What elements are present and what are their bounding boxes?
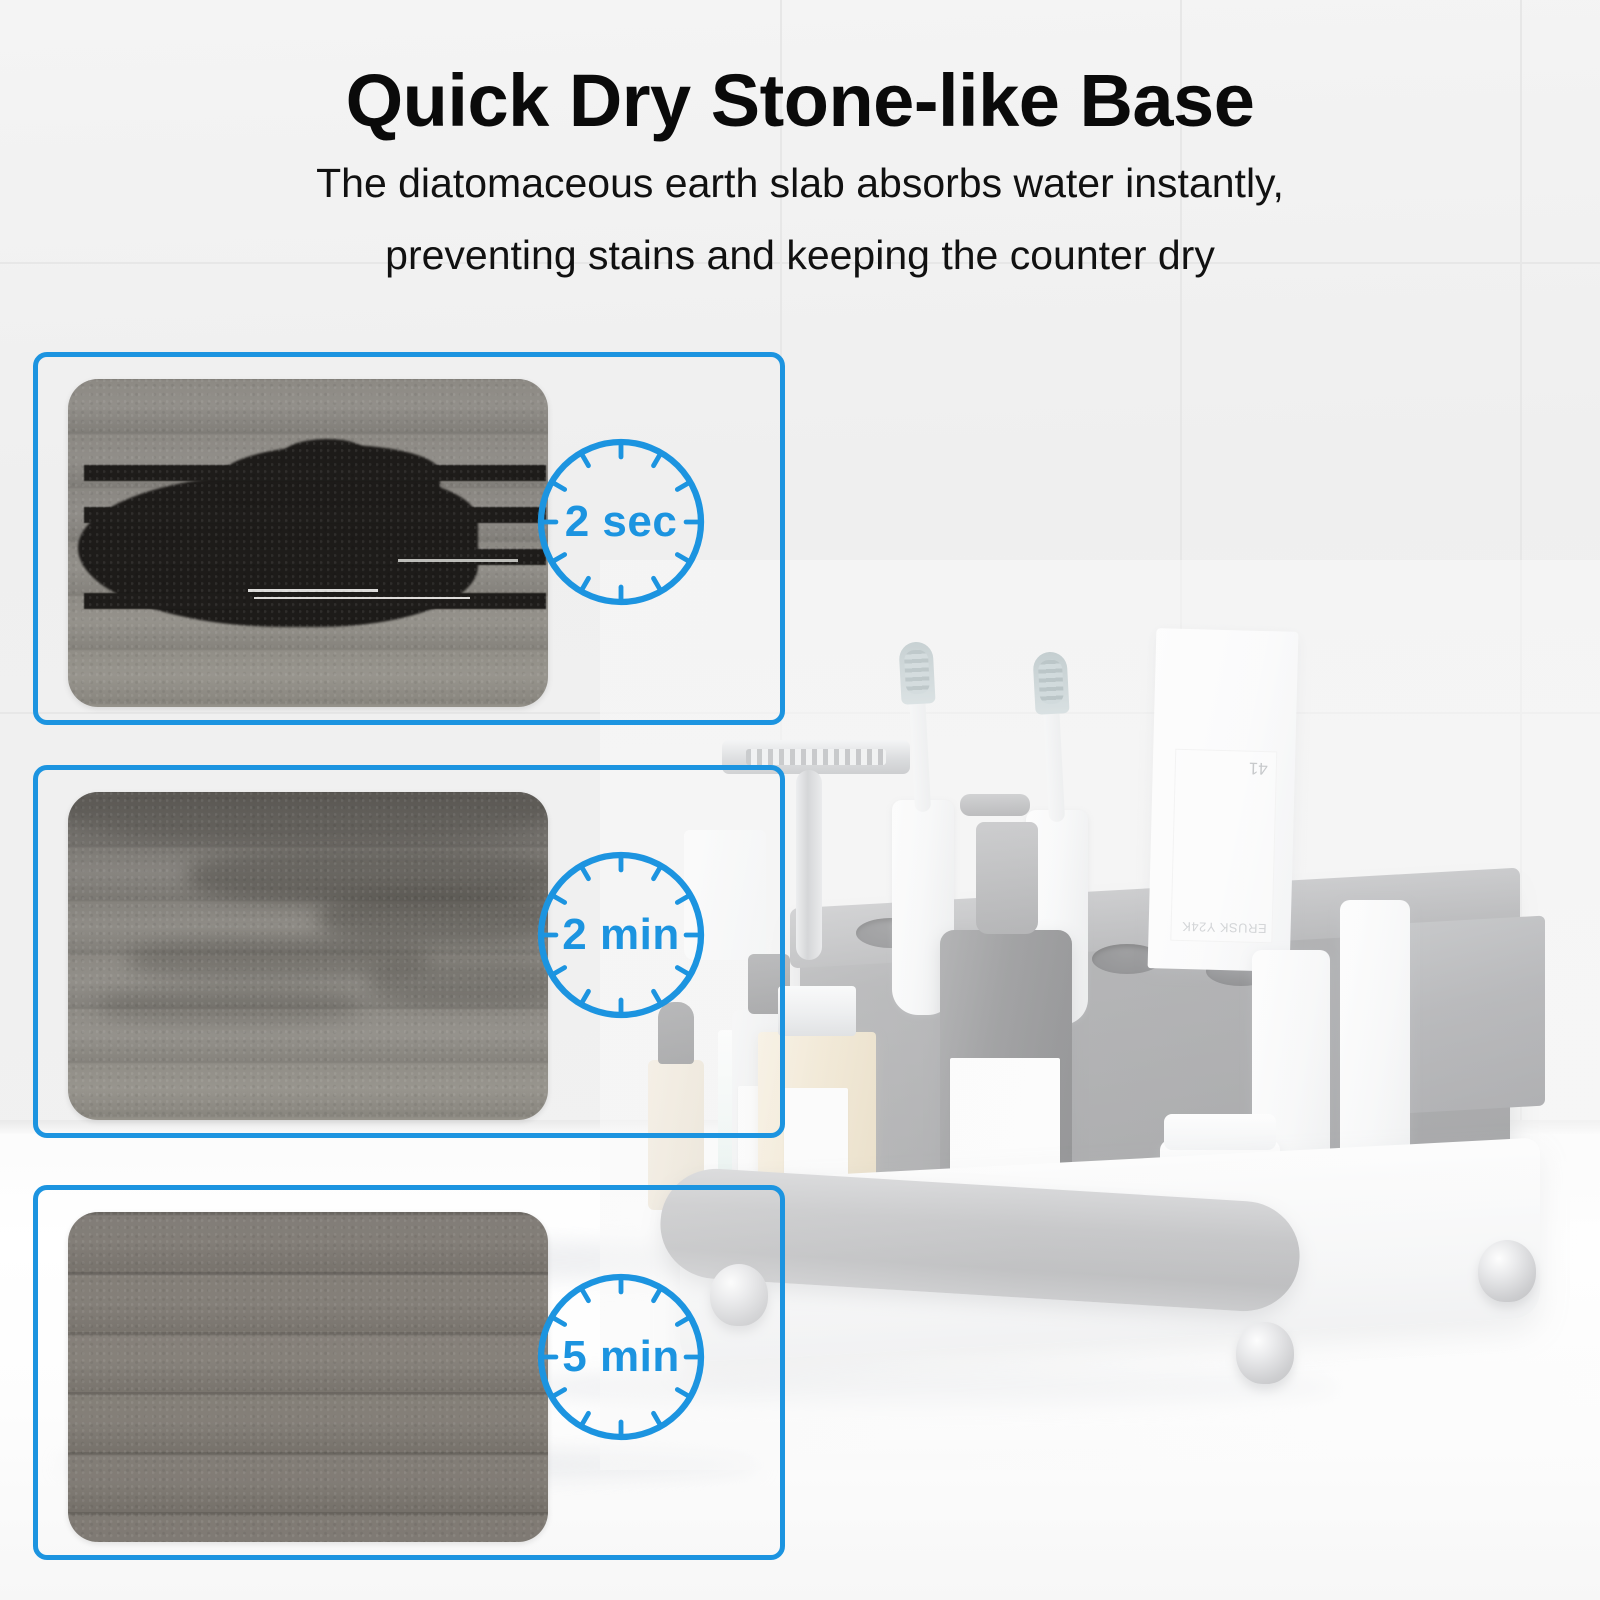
- subtitle-line-2: preventing stains and keeping the counte…: [0, 226, 1600, 284]
- stage-panel-dry[interactable]: 5 min: [33, 1185, 785, 1560]
- stage-panel-wet[interactable]: 2 sec: [33, 352, 785, 725]
- clock-badge-label: 2 min: [528, 842, 714, 1028]
- slab-photo-wet: [68, 379, 548, 707]
- clock-badge-label: 5 min: [528, 1264, 714, 1450]
- slab-photo-dry: [68, 1212, 548, 1542]
- clock-badge-label: 2 sec: [528, 429, 714, 615]
- tube-label-text: ERUSK Y24K: [1181, 919, 1266, 936]
- perfume-label: [784, 1088, 848, 1184]
- chrome-foot: [1478, 1240, 1536, 1302]
- perfume-cap: [778, 986, 856, 1036]
- subtitle-line-1: The diatomaceous earth slab absorbs wate…: [0, 154, 1600, 212]
- toothpaste-tube: 41 ERUSK Y24K: [1148, 628, 1299, 972]
- toothbrush-head: [1032, 651, 1069, 715]
- clock-badge-2sec: 2 sec: [528, 429, 714, 615]
- clock-badge-5min: 5 min: [528, 1264, 714, 1450]
- chrome-foot: [1236, 1322, 1294, 1384]
- page-title: Quick Dry Stone-like Base: [0, 62, 1600, 140]
- toothbrush-neck: [909, 692, 931, 813]
- stage-panel-damp[interactable]: 2 min: [33, 765, 785, 1138]
- toothbrush-neck: [1043, 702, 1065, 823]
- header: Quick Dry Stone-like Base The diatomaceo…: [0, 0, 1600, 284]
- pump-head: [976, 822, 1038, 934]
- slab-photo-damp: [68, 792, 548, 1120]
- pump-bottle: [940, 930, 1072, 1200]
- razor-handle: [796, 770, 822, 960]
- clock-badge-2min: 2 min: [528, 842, 714, 1028]
- toothbrush-head: [898, 641, 935, 705]
- tube-label: 41 ERUSK Y24K: [1170, 749, 1277, 944]
- pump-nozzle: [960, 794, 1030, 816]
- tube-label-number: 41: [1249, 758, 1268, 778]
